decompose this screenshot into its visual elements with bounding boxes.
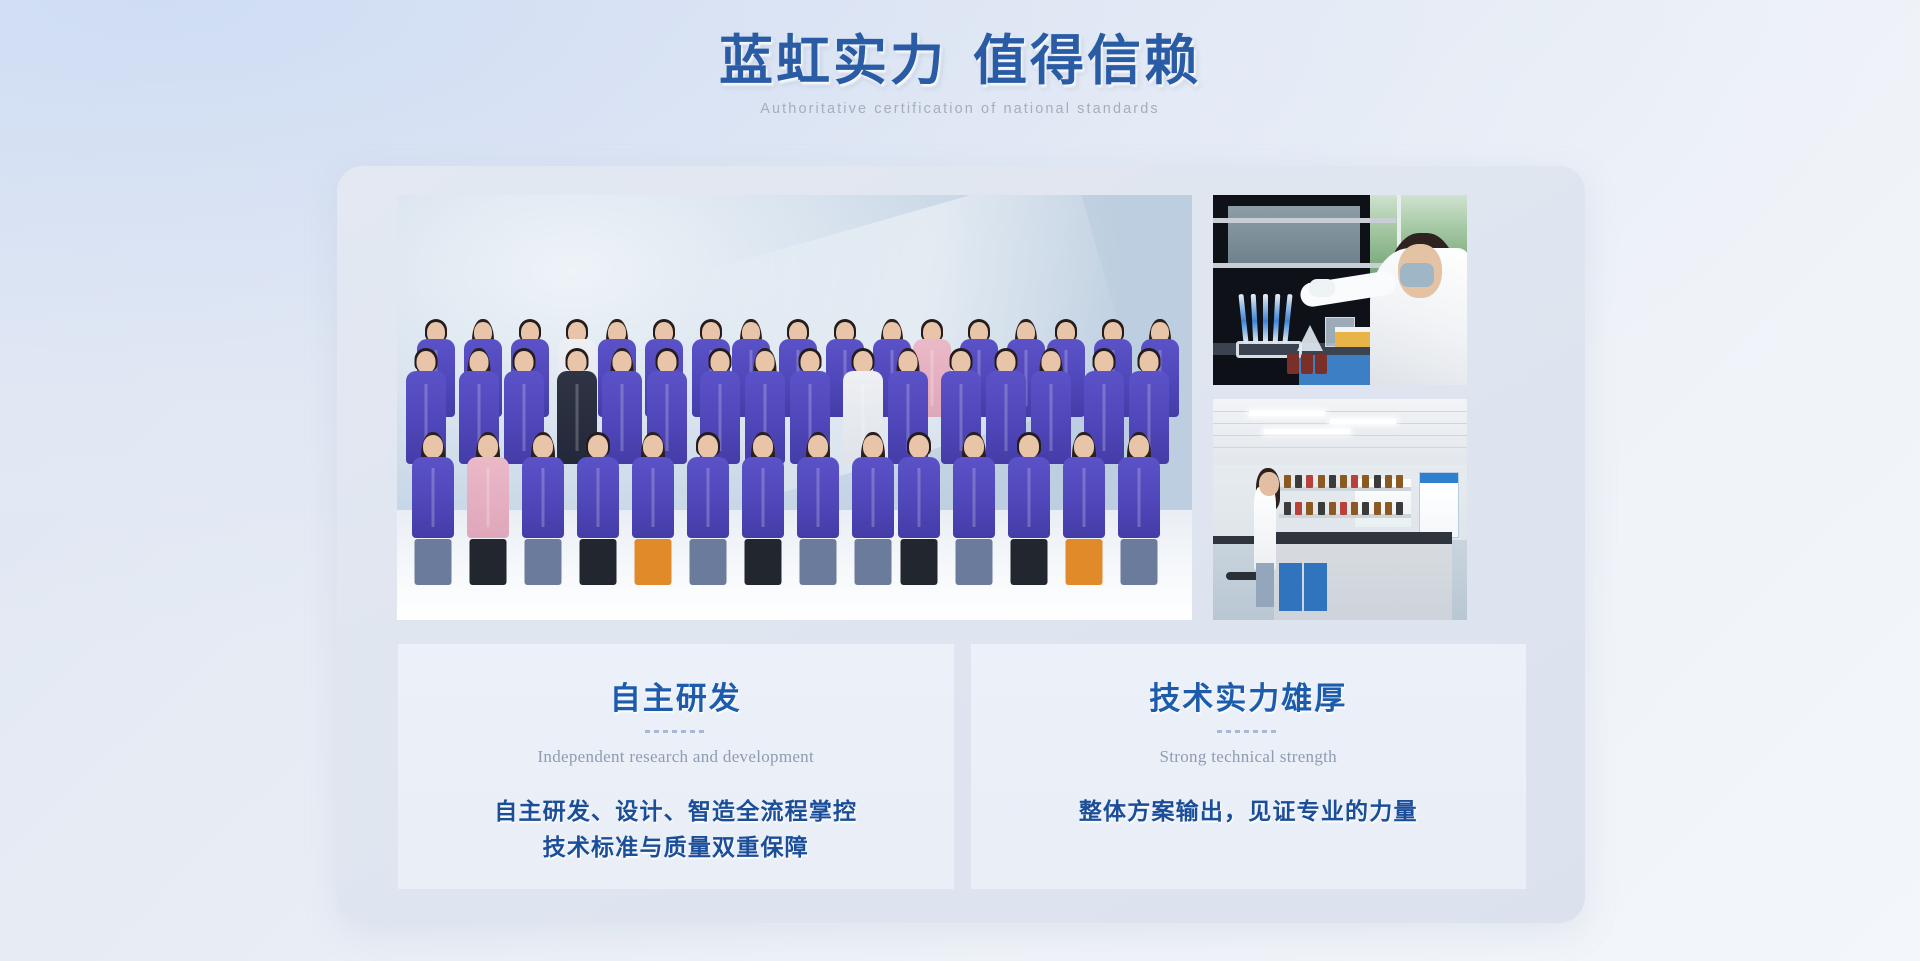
lab2-cabinet-1: [1279, 563, 1302, 612]
content-panel: 自主研发 Independent research and developmen…: [337, 166, 1585, 923]
team-member-legs: [744, 539, 781, 585]
laboratory-room-scene: [1213, 399, 1467, 620]
feature-card-technical-strength: 技术实力雄厚 Strong technical strength 整体方案输出，…: [971, 644, 1527, 889]
team-member-uniform: [412, 457, 454, 538]
page-title-part1: 蓝虹实力: [719, 31, 947, 91]
page-header: 蓝虹实力值得信赖 Authoritative certification of …: [0, 0, 1920, 117]
team-member-head: [952, 351, 971, 373]
lab2-reagent-bottle: [1385, 502, 1392, 515]
lab2-reagent-bottle: [1306, 502, 1313, 515]
card-body-line-1: 整体方案输出，见证专业的力量: [971, 794, 1527, 830]
lab2-island-top: [1274, 532, 1452, 544]
lab2-reagent-bottle: [1362, 475, 1369, 488]
team-member-head: [997, 351, 1016, 373]
lab1-flask: [1297, 325, 1323, 351]
team-member-head: [756, 351, 775, 373]
team-member-head: [863, 435, 883, 458]
lab1-bottle: [1301, 354, 1313, 374]
lab1-pipette: [1282, 294, 1292, 344]
lab2-reagent-bottle: [1374, 475, 1381, 488]
team-member: [686, 432, 730, 585]
lab2-reagent-bottle: [1340, 475, 1347, 488]
lab1-pipettes: [1241, 294, 1297, 343]
team-member: [952, 432, 996, 585]
team-group-photo: [397, 195, 1192, 620]
team-member-legs: [524, 539, 561, 585]
team-member-uniform: [742, 457, 784, 538]
lab2-reagent-bottle: [1295, 475, 1302, 488]
team-member: [466, 432, 510, 585]
lab2-reagent-bottle: [1318, 502, 1325, 515]
team-member-uniform: [522, 457, 564, 538]
team-member-legs: [469, 539, 506, 585]
team-member-head: [808, 435, 828, 458]
team-member-head: [1095, 351, 1114, 373]
team-member-uniform: [898, 457, 940, 538]
lab2-ceiling-line: [1213, 435, 1467, 436]
photo-gallery: [397, 195, 1525, 620]
lab2-ceiling: [1213, 399, 1467, 465]
laboratory-room-photo: [1213, 399, 1467, 620]
team-member-head: [909, 435, 929, 458]
team-member-uniform: [687, 457, 729, 538]
lab1-pipette: [1263, 294, 1268, 343]
team-member-head: [568, 351, 587, 373]
team-member-head: [899, 351, 918, 373]
card-title: 自主研发: [398, 673, 954, 718]
team-member-head: [1140, 351, 1159, 373]
team-member-legs: [414, 539, 451, 585]
team-member-head: [478, 435, 498, 458]
team-member-head: [801, 351, 820, 373]
team-member-head: [417, 351, 436, 373]
team-member-head: [698, 435, 718, 458]
card-divider: [645, 730, 707, 733]
lab2-reagent-bottle: [1362, 502, 1369, 515]
lab1-pipette: [1238, 294, 1248, 344]
card-divider: [1217, 730, 1279, 733]
lab2-reagent-bottle: [1318, 475, 1325, 488]
team-member: [1062, 432, 1106, 585]
lab2-safety-poster: [1419, 472, 1460, 538]
team-member-head: [613, 351, 632, 373]
team-member: [1007, 432, 1051, 585]
lab2-reagent-bottle: [1351, 502, 1358, 515]
lab2-reagent-bottle: [1284, 502, 1291, 515]
card-body-line-2: 技术标准与质量双重保障: [398, 830, 954, 866]
team-member-legs: [955, 539, 992, 585]
team-member-uniform: [632, 457, 674, 538]
team-member-legs: [799, 539, 836, 585]
lab2-reagent-bottle: [1329, 475, 1336, 488]
team-member-legs: [689, 539, 726, 585]
feature-card-list: 自主研发 Independent research and developmen…: [398, 644, 1526, 889]
team-members: [397, 195, 1192, 620]
team-member: [796, 432, 840, 585]
page-title-part2: 值得信赖: [973, 31, 1201, 91]
team-member-uniform: [1118, 457, 1160, 538]
team-member: [521, 432, 565, 585]
team-member: [576, 432, 620, 585]
lab2-ceiling-light: [1264, 429, 1350, 434]
lab2-reagent-bottle: [1374, 502, 1381, 515]
team-member: [897, 432, 941, 585]
team-member-legs: [1010, 539, 1047, 585]
team-member-head: [1129, 435, 1149, 458]
team-member-head: [658, 351, 677, 373]
team-member-head: [753, 435, 773, 458]
team-member: [411, 432, 455, 585]
lab2-ceiling-light: [1330, 419, 1396, 424]
team-member-uniform: [577, 457, 619, 538]
team-member-head: [1042, 351, 1061, 373]
team-member-uniform: [797, 457, 839, 538]
team-member-legs: [854, 539, 891, 585]
team-member-uniform: [1063, 457, 1105, 538]
team-member-head: [423, 435, 443, 458]
team-member-legs: [634, 539, 671, 585]
lab2-researcher-legs: [1256, 563, 1274, 607]
team-member-legs: [579, 539, 616, 585]
card-body-line-1: 自主研发、设计、智造全流程掌控: [398, 794, 954, 830]
team-member: [741, 432, 785, 585]
team-member: [1117, 432, 1161, 585]
lab2-researcher-head: [1259, 472, 1279, 496]
lab2-reagent-bottle: [1306, 475, 1313, 488]
card-body-text: 自主研发、设计、智造全流程掌控 技术标准与质量双重保障: [398, 794, 954, 865]
team-member-head: [643, 435, 663, 458]
lab2-reagent-bottle: [1329, 502, 1336, 515]
team-member-head: [515, 351, 534, 373]
lab2-reagent-bottle: [1385, 475, 1392, 488]
lab1-bottle: [1287, 354, 1299, 374]
lab1-pipette: [1251, 294, 1259, 344]
page-title: 蓝虹实力值得信赖: [0, 30, 1920, 92]
team-member-uniform: [852, 457, 894, 538]
card-english-subtitle: Strong technical strength: [971, 747, 1527, 767]
lab2-reagent-bottle: [1295, 502, 1302, 515]
lab1-pipette: [1273, 294, 1281, 344]
team-member-head: [533, 435, 553, 458]
team-member-head: [854, 351, 873, 373]
team-member: [851, 432, 895, 585]
lab1-technician-glove: [1309, 279, 1335, 297]
lab1-reagent-bottles: [1287, 352, 1327, 374]
lab2-researcher-coat: [1254, 487, 1277, 571]
lab-technician-photo: [1213, 195, 1467, 385]
lab2-reagent-bottle: [1351, 475, 1358, 488]
lab2-reagent-bottle: [1340, 502, 1347, 515]
team-member: [631, 432, 675, 585]
feature-card-independent-rnd: 自主研发 Independent research and developmen…: [398, 644, 954, 889]
team-member-head: [1074, 435, 1094, 458]
lab1-shelf-upper: [1213, 218, 1396, 223]
card-body-text: 整体方案输出，见证专业的力量: [971, 794, 1527, 830]
lab2-ceiling-line: [1213, 447, 1467, 448]
team-member-head: [711, 351, 730, 373]
team-member-head: [470, 351, 489, 373]
team-member-legs: [900, 539, 937, 585]
team-member-head: [964, 435, 984, 458]
lab2-ceiling-light: [1249, 411, 1325, 416]
lab2-reagent-bottle: [1284, 475, 1291, 488]
lab2-reagent-bottle: [1396, 502, 1403, 515]
lab2-reagent-bottle: [1396, 475, 1403, 488]
team-member-head: [1019, 435, 1039, 458]
team-member-head: [588, 435, 608, 458]
team-member-uniform: [467, 457, 509, 538]
lab2-stool: [1226, 572, 1260, 580]
lab1-bottle: [1315, 354, 1327, 374]
team-member-uniform: [1008, 457, 1050, 538]
lab2-cabinet-2: [1304, 563, 1327, 612]
lab-technician-scene: [1213, 195, 1467, 385]
lab1-technician-mask: [1400, 263, 1434, 287]
team-member-legs: [1120, 539, 1157, 585]
card-title: 技术实力雄厚: [971, 673, 1527, 718]
page-subtitle: Authoritative certification of national …: [0, 101, 1920, 117]
team-member-uniform: [953, 457, 995, 538]
team-member-legs: [1065, 539, 1102, 585]
lab1-shelf-lower: [1213, 263, 1396, 268]
card-english-subtitle: Independent research and development: [398, 747, 954, 767]
lab1-back-window: [1228, 206, 1360, 263]
